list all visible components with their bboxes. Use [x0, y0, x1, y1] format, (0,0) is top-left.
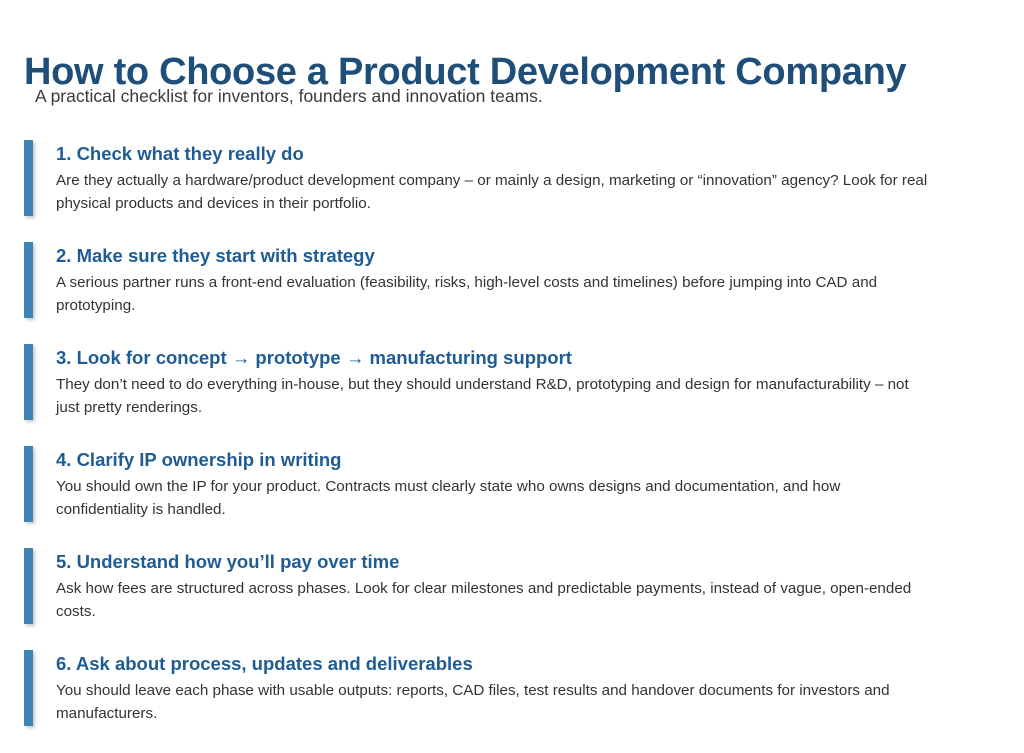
checklist-item-heading: 4. Clarify IP ownership in writing [56, 439, 1024, 471]
checklist-item-heading: 3. Look for concept → prototype → manufa… [56, 337, 1024, 369]
document-page: How to Choose a Product Development Comp… [0, 0, 1024, 753]
checklist-item-heading: 6. Ask about process, updates and delive… [56, 643, 1024, 675]
checklist-item-heading: 5. Understand how you’ll pay over time [56, 541, 1024, 573]
checklist-item-heading: 2. Make sure they start with strategy [56, 235, 1024, 267]
page-subtitle: A practical checklist for inventors, fou… [35, 86, 543, 107]
checklist-item-body: A serious partner runs a front-end evalu… [56, 267, 936, 317]
checklist-item: 5. Understand how you’ll pay over time A… [0, 541, 1024, 643]
accent-bar-icon [24, 344, 33, 420]
checklist-item-body: They don’t need to do everything in-hous… [56, 369, 936, 419]
checklist-item-body: Are they actually a hardware/product dev… [56, 165, 936, 215]
checklist-item: 4. Clarify IP ownership in writing You s… [0, 439, 1024, 541]
checklist-item: 6. Ask about process, updates and delive… [0, 643, 1024, 745]
checklist-item: 3. Look for concept → prototype → manufa… [0, 337, 1024, 439]
accent-bar-icon [24, 446, 33, 522]
checklist-item-heading: 1. Check what they really do [56, 133, 1024, 165]
accent-bar-icon [24, 140, 33, 216]
checklist-item: 1. Check what they really do Are they ac… [0, 133, 1024, 235]
accent-bar-icon [24, 548, 33, 624]
checklist-item-body: Ask how fees are structured across phase… [56, 573, 936, 623]
accent-bar-icon [24, 650, 33, 726]
checklist-item-body: You should leave each phase with usable … [56, 675, 936, 725]
accent-bar-icon [24, 242, 33, 318]
checklist: 1. Check what they really do Are they ac… [0, 133, 1024, 745]
checklist-item: 2. Make sure they start with strategy A … [0, 235, 1024, 337]
checklist-item-body: You should own the IP for your product. … [56, 471, 936, 521]
